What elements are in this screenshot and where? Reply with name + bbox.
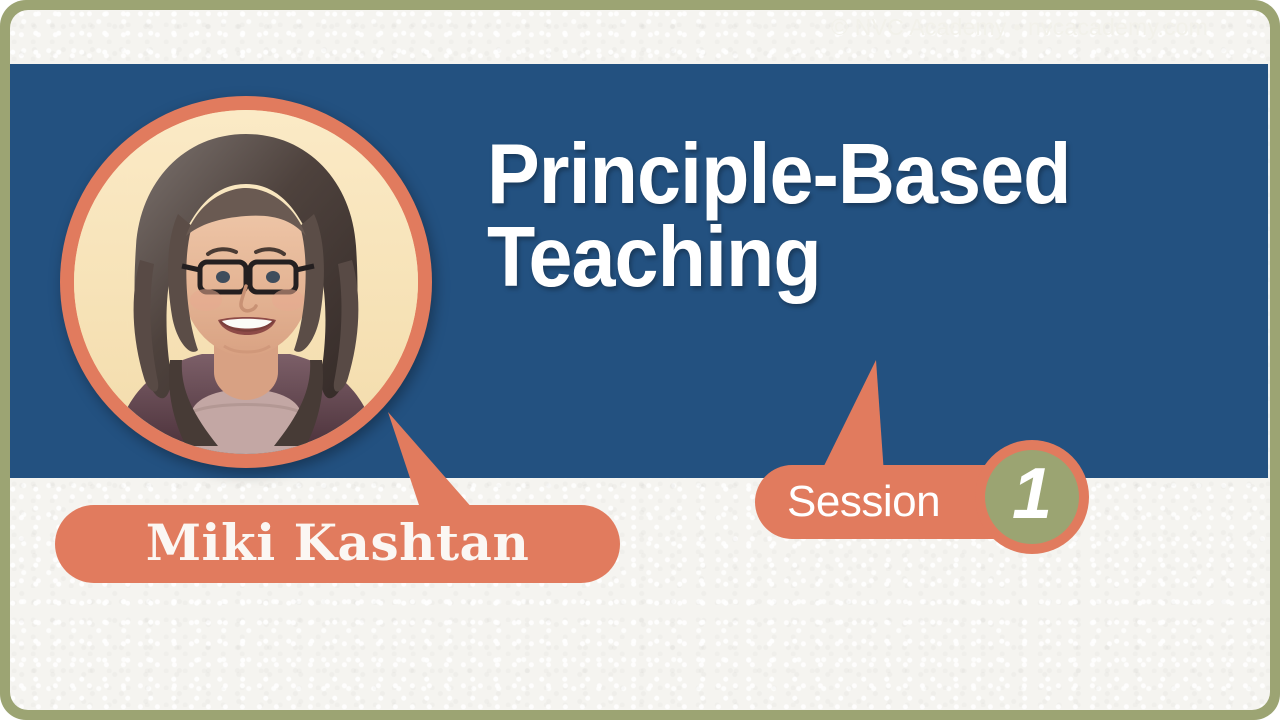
presenter-name-badge: Miki Kashtan bbox=[55, 505, 620, 583]
session-number-ring: 1 bbox=[975, 440, 1089, 554]
title-line-1: Principle-Based bbox=[487, 133, 1194, 216]
session-badge-tail-icon bbox=[820, 352, 960, 482]
title-slide: © NVC Academy • nvcacademy.com bbox=[0, 0, 1280, 720]
session-number: 1 bbox=[1012, 458, 1052, 530]
title-line-2: Teaching bbox=[487, 216, 1194, 299]
session-label: Session bbox=[787, 477, 940, 527]
presenter-name: Miki Kashtan bbox=[146, 513, 530, 572]
session-number-disc: 1 bbox=[985, 450, 1079, 544]
portrait-photo-icon bbox=[74, 110, 418, 454]
copyright-notice: © NVC Academy • nvcacademy.com bbox=[831, 14, 1208, 41]
page-title: Principle-Based Teaching bbox=[487, 133, 1247, 300]
